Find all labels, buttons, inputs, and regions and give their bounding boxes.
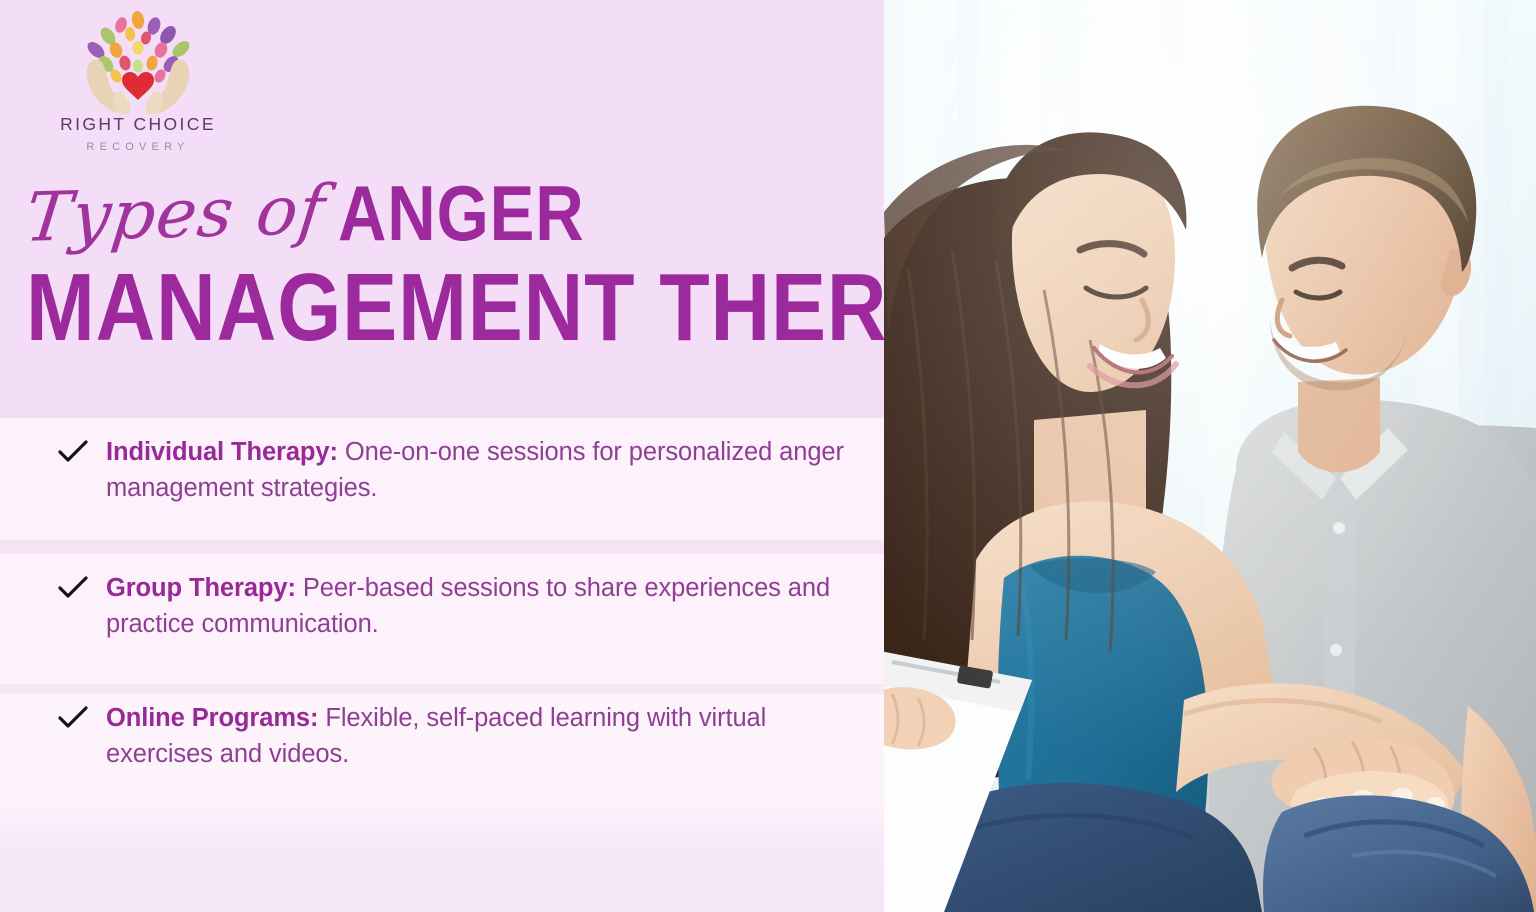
bullet-text: Group Therapy: Peer-based sessions to sh… xyxy=(106,570,858,642)
brand-logo[interactable]: RIGHT CHOICE RECOVERY xyxy=(18,8,258,163)
brand-tagline: RECOVERY xyxy=(18,141,258,153)
bullet-text: Individual Therapy: One-on-one sessions … xyxy=(106,434,858,506)
title-line-1: Types of ANGER xyxy=(26,160,866,252)
title-script-text: Types of xyxy=(22,180,329,256)
footer-background-band xyxy=(0,804,884,912)
divider-band-1 xyxy=(0,408,884,418)
checkmark-icon xyxy=(58,570,88,600)
hands-holding-heart-tree-icon xyxy=(18,8,258,116)
brand-name: RIGHT CHOICE xyxy=(18,114,258,135)
bullet-label: Individual Therapy: xyxy=(106,438,338,466)
bullet-label: Group Therapy: xyxy=(106,574,296,602)
bullet-text: Online Programs: Flexible, self-paced le… xyxy=(106,700,858,772)
checkmark-icon xyxy=(58,700,88,730)
list-item: Online Programs: Flexible, self-paced le… xyxy=(58,700,858,772)
photo-illustration xyxy=(884,0,1536,912)
checkmark-icon xyxy=(58,434,88,464)
title-bold-line-1: ANGER xyxy=(338,178,585,252)
content-panel: RIGHT CHOICE RECOVERY Types of ANGER MAN… xyxy=(0,0,884,912)
title-bold-line-2: MANAGEMENT THERAPY xyxy=(26,264,748,352)
divider-band-2 xyxy=(0,540,884,554)
list-item: Group Therapy: Peer-based sessions to sh… xyxy=(58,570,858,642)
bullet-label: Online Programs: xyxy=(106,704,318,732)
list-item: Individual Therapy: One-on-one sessions … xyxy=(58,434,858,506)
divider-band-3 xyxy=(0,684,884,694)
couple-therapy-photo xyxy=(884,0,1536,912)
page-title: Types of ANGER MANAGEMENT THERAPY xyxy=(26,160,866,352)
anger-management-therapy-banner: RIGHT CHOICE RECOVERY Types of ANGER MAN… xyxy=(0,0,1536,912)
